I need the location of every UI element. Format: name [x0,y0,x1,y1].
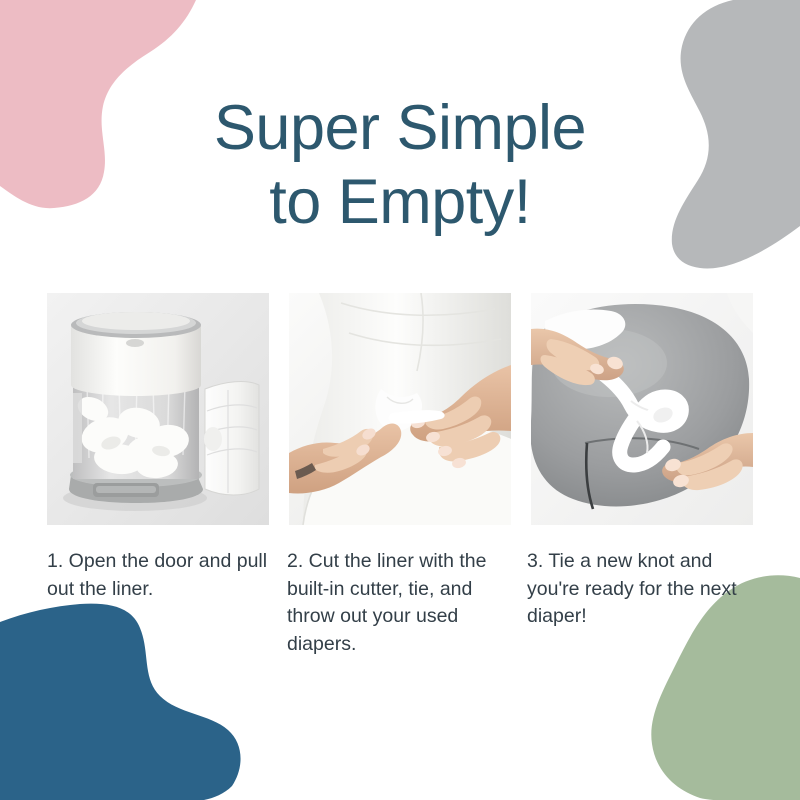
step-1-photo [47,293,269,525]
page-title-line-2: to Empty! [0,166,800,240]
step-3-photo [531,293,753,525]
promo-graphic: Super Simple to Empty! [0,0,800,800]
page-title-line-1: Super Simple [0,92,800,166]
step-3-caption: 3. Tie a new knot and you're ready for t… [527,548,749,659]
diaper-pail-open-illustration [47,293,269,525]
step-photo-row [47,293,753,525]
step-2-caption: 2. Cut the liner with the built-in cutte… [287,548,509,659]
step-caption-row: 1. Open the door and pull out the liner.… [47,548,787,659]
step-1-caption: 1. Open the door and pull out the liner. [47,548,269,659]
page-title: Super Simple to Empty! [0,92,800,239]
step-2-photo [289,293,511,525]
hands-tying-knot-illustration [531,293,753,525]
hands-cutting-liner-illustration [289,293,511,525]
